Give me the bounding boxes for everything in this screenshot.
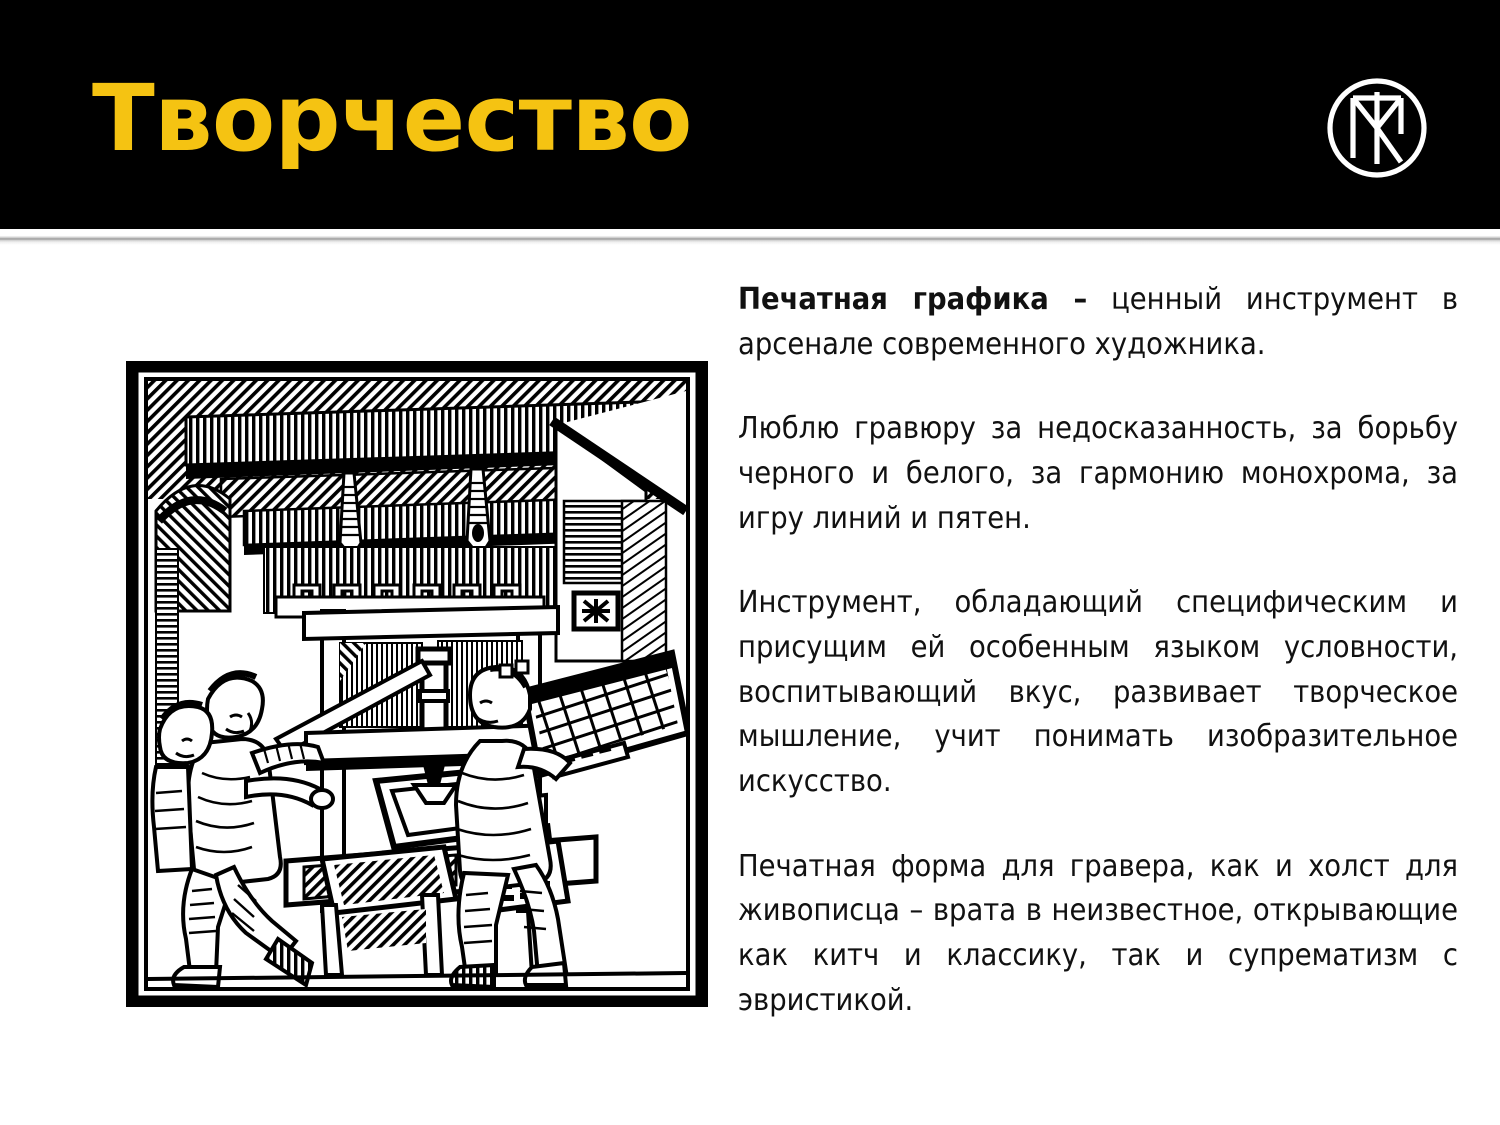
paragraph-1-lead: Печатная графика –	[738, 282, 1087, 317]
paragraph-1: Печатная графика – ценный инструмент в а…	[738, 278, 1458, 367]
page-title: Творчество	[92, 72, 692, 166]
circular-monogram-logo[interactable]	[1321, 72, 1433, 184]
paragraph-4: Печатная форма для гравера, как и холст …	[738, 845, 1458, 1024]
header-divider-rule	[0, 229, 1500, 245]
paragraph-3: Инструмент, обладающий специфическим и п…	[738, 581, 1458, 804]
body-copy-block: Печатная графика – ценный инструмент в а…	[738, 278, 1458, 1023]
paragraph-2: Люблю гравюру за недосказанность, за бор…	[738, 407, 1458, 541]
printing-press-woodcut	[126, 361, 708, 1007]
presentation-slide: Творчество	[0, 0, 1500, 1125]
